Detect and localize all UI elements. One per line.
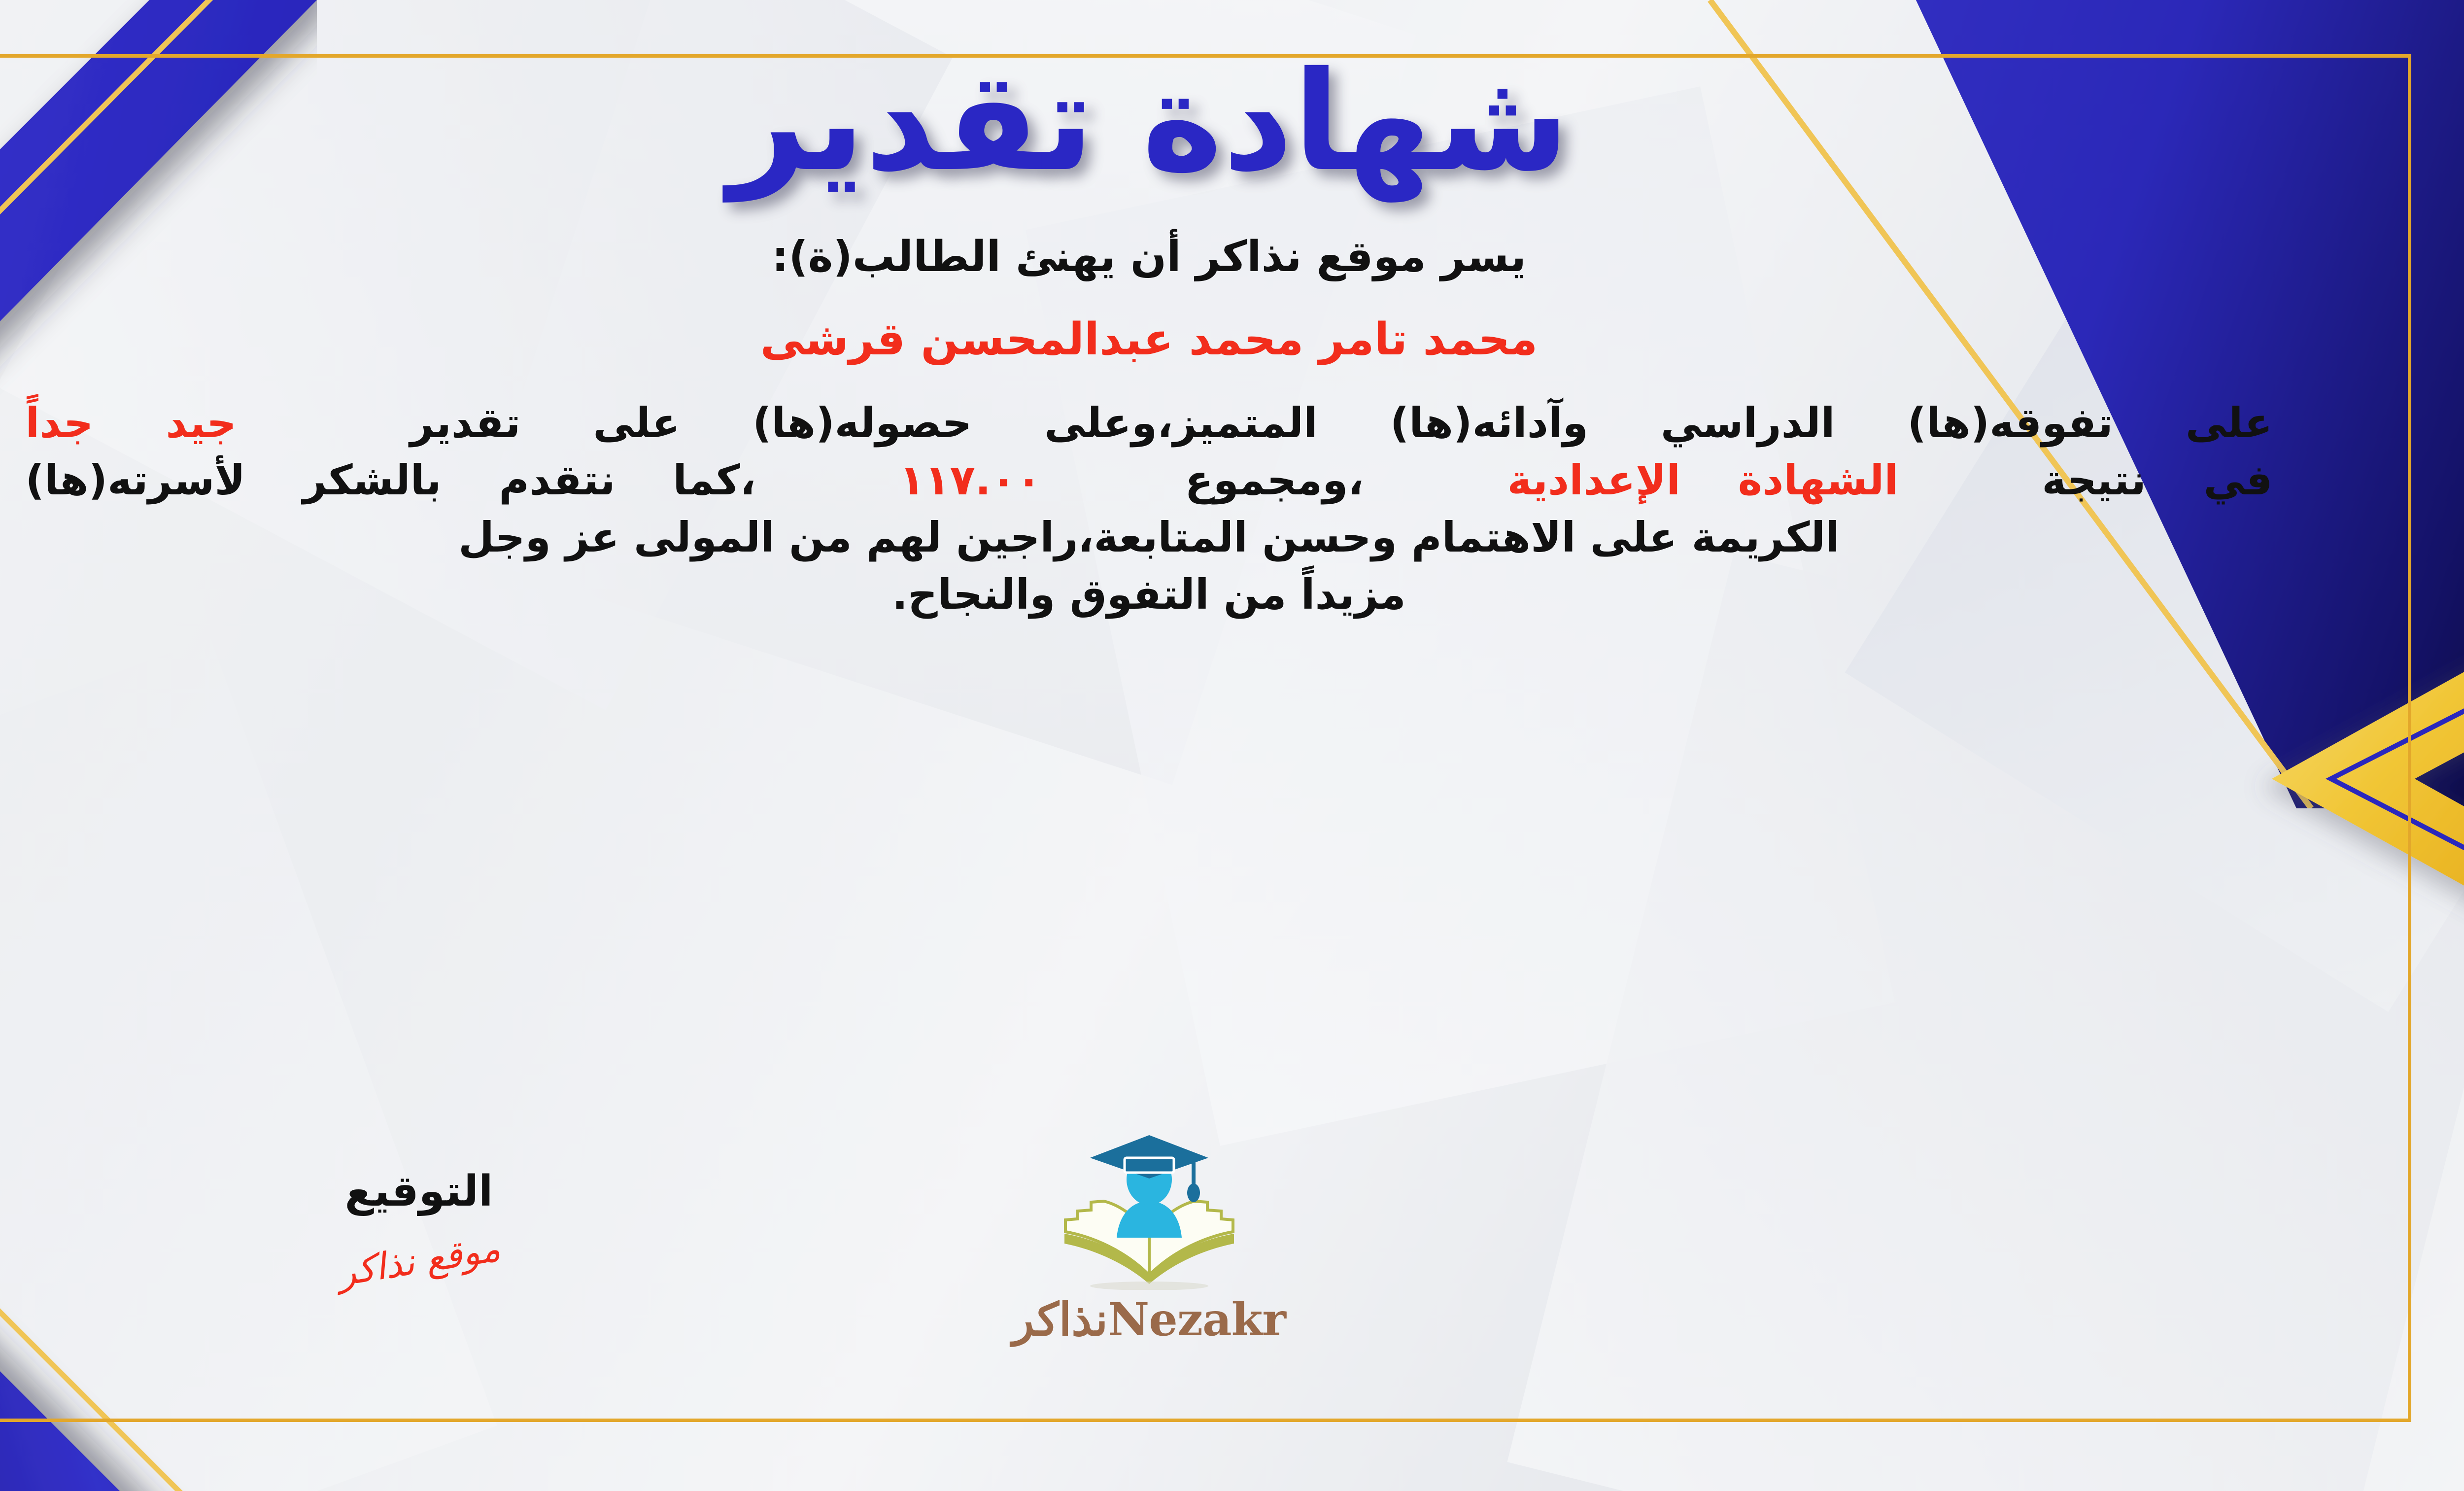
intro-line: يسر موقع نذاكر أن يهنئ الطالب(ة):: [26, 228, 2273, 286]
result-prefix: في نتيجة: [2042, 456, 2272, 504]
exam-name: الشهادة الإعدادية: [1507, 456, 1899, 504]
student-name: محمد تامر محمد عبدالمحسن قرشى: [26, 309, 2273, 370]
page-title: شهادة تقدير: [0, 0, 2464, 190]
total-score: ١١٧.٠٠: [899, 456, 1041, 504]
certificate-page: شهادة تقدير يسر موقع نذاكر أن يهنئ الطال…: [0, 0, 2464, 1491]
result-line: في نتيجة الشهادة الإعدادية ،ومجموع ١١٧.٠…: [26, 452, 2273, 509]
certificate-body: يسر موقع نذاكر أن يهنئ الطالب(ة): محمد ت…: [26, 190, 2273, 623]
total-label: ،ومجموع: [1185, 456, 1364, 504]
closing-line: مزيداً من التفوق والنجاح.: [26, 566, 2273, 624]
thanks-family-text: ،كما نتقدم بالشكر لأسرته(ها): [26, 456, 756, 504]
achievement-text: على تفوقه(ها) الدراسي وآدائه(ها) المتميز…: [410, 399, 2273, 447]
gratitude-line: الكريمة على الاهتمام وحسن المتابعة،راجين…: [26, 509, 2273, 566]
certificate-content: شهادة تقدير يسر موقع نذاكر أن يهنئ الطال…: [0, 0, 2464, 1491]
grade-value: جيد جداً: [26, 399, 237, 447]
achievement-line: على تفوقه(ها) الدراسي وآدائه(ها) المتميز…: [26, 395, 2273, 452]
